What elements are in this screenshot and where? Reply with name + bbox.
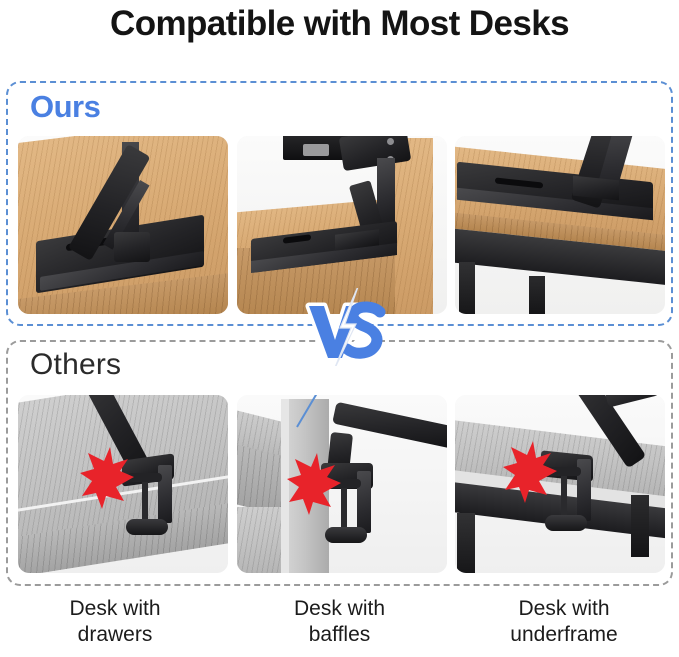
clamp-knob (126, 519, 168, 535)
desk-leg (631, 495, 649, 557)
ours-photo-row (18, 136, 665, 314)
caption-underframe: Desk with underframe (459, 596, 669, 648)
caption-baffles-line1: Desk with (235, 596, 445, 622)
arm-screw (387, 138, 394, 145)
caption-underframe-line1: Desk with (459, 596, 669, 622)
page-title: Compatible with Most Desks (0, 2, 679, 46)
others-comparison-box: Others (6, 340, 673, 586)
caption-baffles-line2: baffles (235, 622, 445, 648)
caption-drawers: Desk with drawers (10, 596, 220, 648)
caption-underframe-line2: underframe (459, 622, 669, 648)
desk-leg (457, 513, 475, 573)
ours-photo-1-scene (18, 136, 228, 314)
warning-starburst-icon (287, 453, 343, 515)
ours-photo-3-scene (455, 136, 665, 314)
clamp-knob (545, 515, 587, 531)
others-photo-3-scene (455, 395, 665, 573)
caption-drawers-line1: Desk with (10, 596, 220, 622)
others-photo-3 (455, 395, 665, 573)
others-photo-2-scene (237, 395, 447, 573)
others-photo-row (18, 395, 665, 573)
wood-side-panel (395, 138, 433, 314)
post-foot (114, 232, 150, 262)
others-photo-1 (18, 395, 228, 573)
ours-comparison-box: Ours (6, 81, 673, 326)
warning-starburst-icon (80, 447, 136, 509)
ours-photo-2-scene (237, 136, 447, 314)
others-photo-2 (237, 395, 447, 573)
warning-starburst-icon (503, 441, 559, 503)
baffle-pointer-line (283, 395, 327, 431)
ours-photo-1 (18, 136, 228, 314)
caption-baffles: Desk with baffles (235, 596, 445, 648)
caption-drawers-line2: drawers (10, 622, 220, 648)
ours-photo-2 (237, 136, 447, 314)
others-photo-1-scene (18, 395, 228, 573)
others-label: Others (30, 348, 121, 382)
desk-leg (459, 262, 475, 314)
ours-photo-3 (455, 136, 665, 314)
ours-label: Ours (30, 89, 100, 125)
caption-row: Desk with drawers Desk with baffles Desk… (10, 596, 669, 648)
monitor-vesa-plate (303, 144, 329, 156)
desk-leg (529, 276, 545, 314)
clamp-knob (325, 527, 367, 543)
